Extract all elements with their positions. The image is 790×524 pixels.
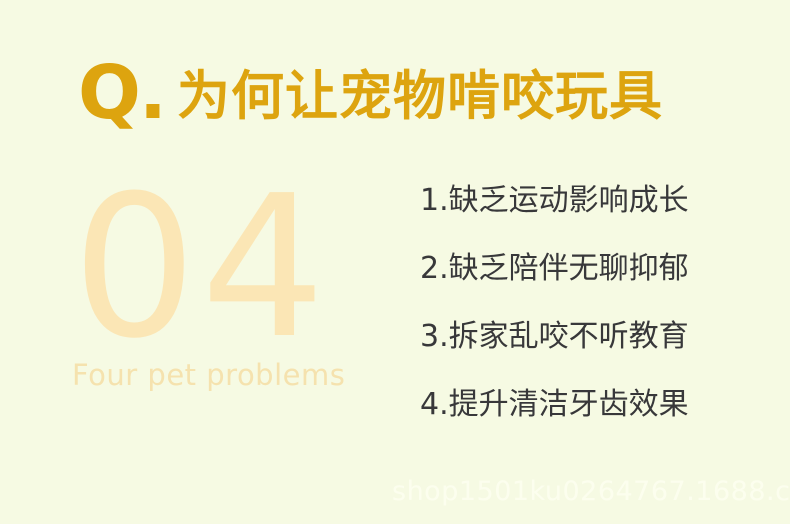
section-subtitle-en: Four pet problems bbox=[72, 358, 382, 392]
watermark: shop1501ku0264767.1688.com bbox=[392, 476, 790, 507]
page-title: Q. 为何让宠物啃咬玩具 bbox=[78, 52, 663, 126]
section-number-block: 04 Four pet problems bbox=[72, 172, 382, 392]
promo-banner: Q. 为何让宠物啃咬玩具 04 Four pet problems 1.缺乏运动… bbox=[0, 0, 790, 524]
list-item: 4.提升清洁牙齿效果 bbox=[420, 390, 750, 420]
list-item: 1.缺乏运动影响成长 bbox=[420, 186, 750, 216]
list-item: 2.缺乏陪伴无聊抑郁 bbox=[420, 254, 750, 284]
page-title-text: 为何让宠物啃咬玩具 bbox=[177, 70, 663, 123]
problem-list: 1.缺乏运动影响成长 2.缺乏陪伴无聊抑郁 3.拆家乱咬不听教育 4.提升清洁牙… bbox=[420, 186, 750, 420]
list-item: 3.拆家乱咬不听教育 bbox=[420, 322, 750, 352]
section-number: 04 bbox=[72, 172, 382, 364]
question-mark-label: Q. bbox=[78, 56, 165, 130]
